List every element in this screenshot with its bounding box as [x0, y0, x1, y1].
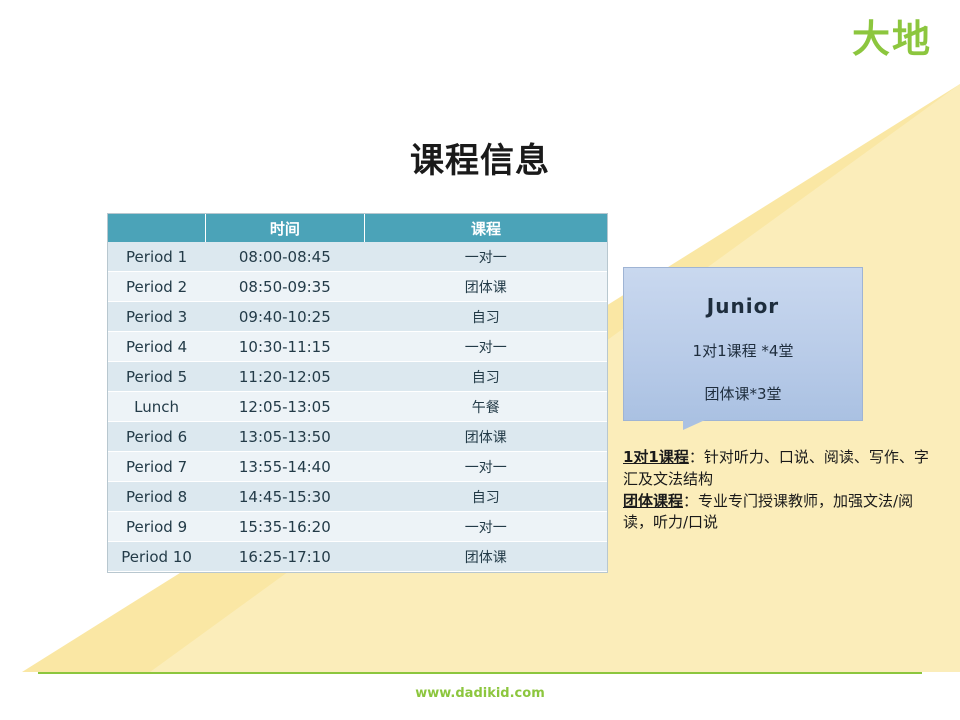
- cell-time: 08:50-09:35: [205, 272, 364, 302]
- note-two-label: 团体课程: [623, 492, 683, 510]
- table-row: Period 10 16:25-17:10 团体课: [108, 542, 607, 572]
- cell-time: 10:30-11:15: [205, 332, 364, 362]
- schedule-table: 时间 课程 Period 1 08:00-08:45 一对一 Period 2 …: [108, 214, 607, 572]
- junior-callout: Junior 1对1课程 *4堂 团体课*3堂: [623, 267, 863, 429]
- column-header-time: 时间: [205, 214, 364, 242]
- slide: 大地 课程信息 时间 课程 Period 1 08:00-08:45 一对一 P…: [0, 0, 960, 720]
- cell-period: Period 9: [108, 512, 205, 542]
- cell-course: 自习: [364, 362, 607, 392]
- course-notes: 1对1课程：针对听力、口说、阅读、写作、字汇及文法结构 团体课程：专业专门授课教…: [623, 447, 943, 534]
- table-row: Period 7 13:55-14:40 一对一: [108, 452, 607, 482]
- callout-body: Junior 1对1课程 *4堂 团体课*3堂: [623, 267, 863, 421]
- cell-time: 12:05-13:05: [205, 392, 364, 422]
- cell-period: Period 1: [108, 242, 205, 272]
- cell-time: 15:35-16:20: [205, 512, 364, 542]
- cell-course: 午餐: [364, 392, 607, 422]
- cell-period: Lunch: [108, 392, 205, 422]
- cell-time: 09:40-10:25: [205, 302, 364, 332]
- cell-course: 团体课: [364, 542, 607, 572]
- cell-course: 团体课: [364, 422, 607, 452]
- note-line-two: 团体课程：专业专门授课教师，加强文法/阅读，听力/口说: [623, 491, 943, 535]
- cell-period: Period 8: [108, 482, 205, 512]
- column-header-course: 课程: [364, 214, 607, 242]
- cell-time: 14:45-15:30: [205, 482, 364, 512]
- cell-period: Period 7: [108, 452, 205, 482]
- column-header-period: [108, 214, 205, 242]
- cell-period: Period 4: [108, 332, 205, 362]
- cell-course: 自习: [364, 302, 607, 332]
- cell-course: 一对一: [364, 452, 607, 482]
- callout-line-one: 1对1课程 *4堂: [624, 318, 862, 361]
- callout-line-two: 团体课*3堂: [624, 361, 862, 404]
- table-header-row: 时间 课程: [108, 214, 607, 242]
- cell-period: Period 3: [108, 302, 205, 332]
- table-row: Period 2 08:50-09:35 团体课: [108, 272, 607, 302]
- table-row: Lunch 12:05-13:05 午餐: [108, 392, 607, 422]
- cell-period: Period 10: [108, 542, 205, 572]
- cell-period: Period 2: [108, 272, 205, 302]
- cell-time: 11:20-12:05: [205, 362, 364, 392]
- cell-course: 自习: [364, 482, 607, 512]
- table-row: Period 6 13:05-13:50 团体课: [108, 422, 607, 452]
- cell-period: Period 5: [108, 362, 205, 392]
- table-row: Period 3 09:40-10:25 自习: [108, 302, 607, 332]
- cell-course: 一对一: [364, 512, 607, 542]
- callout-tail: [683, 420, 705, 430]
- table-row: Period 9 15:35-16:20 一对一: [108, 512, 607, 542]
- brand-logo: 大地: [852, 20, 932, 58]
- cell-time: 13:55-14:40: [205, 452, 364, 482]
- cell-course: 一对一: [364, 332, 607, 362]
- cell-period: Period 6: [108, 422, 205, 452]
- callout-title: Junior: [624, 268, 862, 318]
- footer-divider: [38, 672, 922, 674]
- table-row: Period 5 11:20-12:05 自习: [108, 362, 607, 392]
- note-line-one: 1对1课程：针对听力、口说、阅读、写作、字汇及文法结构: [623, 447, 943, 491]
- cell-time: 16:25-17:10: [205, 542, 364, 572]
- note-one-label: 1对1课程: [623, 448, 689, 466]
- cell-course: 一对一: [364, 242, 607, 272]
- cell-time: 13:05-13:50: [205, 422, 364, 452]
- table-row: Period 1 08:00-08:45 一对一: [108, 242, 607, 272]
- cell-time: 08:00-08:45: [205, 242, 364, 272]
- table-row: Period 8 14:45-15:30 自习: [108, 482, 607, 512]
- cell-course: 团体课: [364, 272, 607, 302]
- page-title: 课程信息: [0, 133, 960, 182]
- schedule-table-container: 时间 课程 Period 1 08:00-08:45 一对一 Period 2 …: [107, 213, 608, 573]
- table-row: Period 4 10:30-11:15 一对一: [108, 332, 607, 362]
- footer-url: www.dadikid.com: [0, 686, 960, 701]
